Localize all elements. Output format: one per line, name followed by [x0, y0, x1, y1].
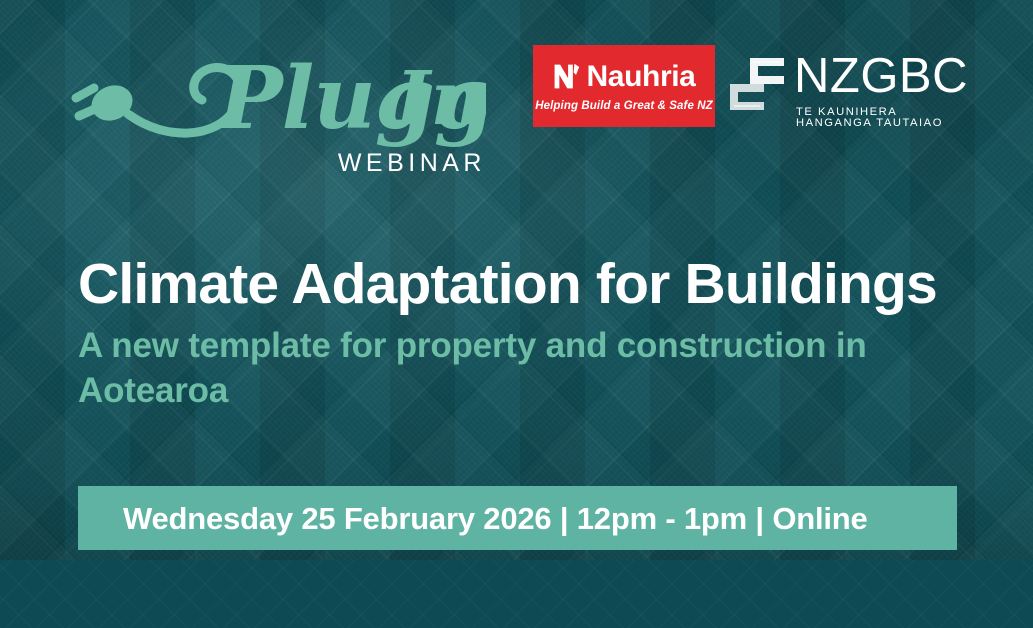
nzgbc-stepped-mark-icon	[726, 54, 788, 116]
nauhria-tagline: Helping Build a Great & Safe NZ	[535, 101, 713, 113]
nzgbc-name: NZGBC	[794, 50, 968, 104]
nauhria-logo: Nauhria Helping Build a Great & Safe NZ	[533, 45, 715, 127]
headline-block: Climate Adaptation for Buildings A new t…	[78, 256, 978, 414]
event-details-banner: Wednesday 25 February 2026 | 12pm - 1pm …	[78, 486, 957, 550]
nauhria-lockup: Nauhria	[553, 62, 696, 92]
nauhria-name: Nauhria	[587, 62, 696, 92]
webinar-promo-poster: Plugged In WEBINAR Nauhria Helping Build…	[0, 0, 1033, 628]
event-details-text: Wednesday 25 February 2026 | 12pm - 1pm …	[78, 503, 868, 534]
event-title: Climate Adaptation for Buildings	[78, 256, 978, 313]
svg-text:In: In	[394, 56, 484, 142]
background-bottom-band	[0, 560, 1033, 628]
nzgbc-tagline: TE KAUNIHERA HANGANGA TAUTAIAO	[796, 107, 972, 129]
nzgbc-logo: NZGBC TE KAUNIHERA HANGANGA TAUTAIAO	[726, 52, 972, 127]
webinar-label: WEBINAR	[338, 151, 486, 176]
nauhria-n-mark-icon	[553, 62, 580, 91]
plugged-in-logo: Plugged In WEBINAR	[66, 38, 486, 183]
plugged-in-wordmark-icon: Plugged In	[66, 38, 486, 156]
event-subtitle: A new template for property and construc…	[78, 324, 928, 414]
